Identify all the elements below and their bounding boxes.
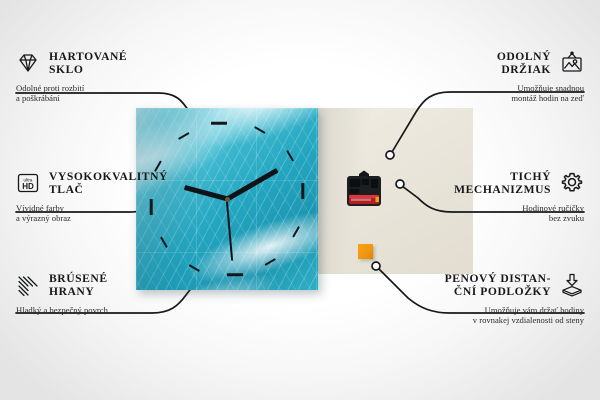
feature-polished-edges: BRÚSENÉ HRANY Hladký a bezpečný povrch xyxy=(16,272,206,315)
feature-durable-hanger: ODOLNÝ DRŽIAK Umožňuje snadnou montáž ho… xyxy=(406,50,584,104)
gear-icon xyxy=(560,171,584,195)
feature-title: ODOLNÝ DRŽIAK xyxy=(497,50,551,77)
feature-header: ODOLNÝ DRŽIAK xyxy=(406,50,584,77)
clock-tick xyxy=(302,183,305,199)
polished-edges-icon xyxy=(16,273,40,297)
clock-tick xyxy=(211,122,227,125)
foam-spacer-icon xyxy=(560,273,584,297)
feature-description: Hladký a bezpečný povrch xyxy=(16,305,206,316)
feature-title: VYSOKOKVALITNÝ TLAČ xyxy=(49,170,168,197)
feature-header: ultra HD VYSOKOKVALITNÝ TLAČ xyxy=(16,170,186,197)
feature-silent-mechanism: TICHÝ MECHANIZMUS Hodinové ručičky bez z… xyxy=(406,170,584,224)
diamond-icon xyxy=(16,51,40,75)
foam-spacer-pad xyxy=(358,244,373,259)
feature-description: Odolné proti rozbití a poškrábání xyxy=(16,83,186,104)
clock-tick xyxy=(227,274,243,277)
feature-description: Umožňuje snadnou montáž hodin na zeď xyxy=(406,83,584,104)
infographic-canvas: HARTOVANÉ SKLO Odolné proti rozbití a po… xyxy=(0,0,600,400)
feature-title: BRÚSENÉ HRANY xyxy=(49,272,108,299)
feature-description: Umožňuje vám držať hodiny v rovnakej vzd… xyxy=(372,305,584,326)
feature-title: HARTOVANÉ SKLO xyxy=(49,50,127,77)
feature-title: TICHÝ MECHANIZMUS xyxy=(454,170,551,197)
feature-description: Hodinové ručičky bez zvuku xyxy=(406,203,584,224)
feature-header: PENOVÝ DISTAN- ČNÍ PODLOŽKY xyxy=(372,272,584,299)
wall-frame-icon xyxy=(560,51,584,75)
feature-foam-spacers: PENOVÝ DISTAN- ČNÍ PODLOŽKY Umožňuje vám… xyxy=(372,272,584,326)
feature-tempered-glass: HARTOVANÉ SKLO Odolné proti rozbití a po… xyxy=(16,50,186,104)
feature-header: HARTOVANÉ SKLO xyxy=(16,50,186,77)
feature-header: TICHÝ MECHANIZMUS xyxy=(406,170,584,197)
clock-center-pin xyxy=(225,197,230,202)
feature-header: BRÚSENÉ HRANY xyxy=(16,272,206,299)
feature-high-quality-print: ultra HD VYSOKOKVALITNÝ TLAČ Vívidné far… xyxy=(16,170,186,224)
feature-title: PENOVÝ DISTAN- ČNÍ PODLOŽKY xyxy=(445,272,551,299)
clock-movement-mechanism xyxy=(345,170,383,210)
svg-text:HD: HD xyxy=(22,182,34,191)
ultra-hd-icon: ultra HD xyxy=(16,171,40,195)
feature-description: Vívidné farby a výrazný obraz xyxy=(16,203,186,224)
